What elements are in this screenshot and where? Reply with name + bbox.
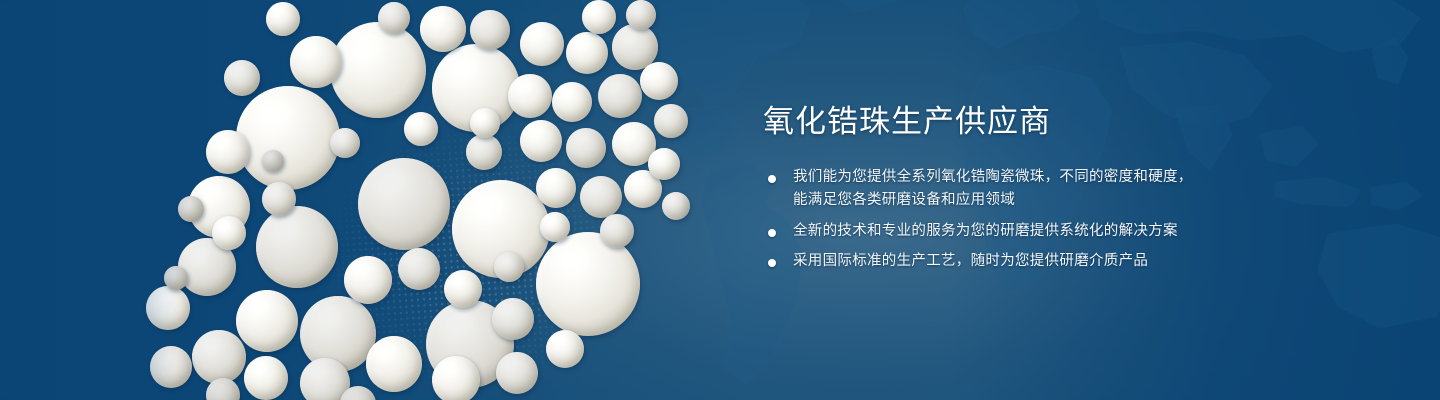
banner-headline: 氧化锆珠生产供应商 [763,104,1283,140]
hero-banner: 氧化锆珠生产供应商 我们能为您提供全系列氧化锆陶瓷微珠，不同的密度和硬度， 能满… [0,0,1440,400]
bullet-item-3: 采用国际标准的生产工艺，随时为您提供研磨介质产品 [763,250,1283,273]
bullet-item-1: 我们能为您提供全系列氧化锆陶瓷微珠，不同的密度和硬度， 能满足您各类研磨设备和应… [763,166,1283,213]
bullet-line: 采用国际标准的生产工艺，随时为您提供研磨介质产品 [793,250,1283,273]
bullet-dot-icon [768,259,776,267]
bullet-item-2: 全新的技术和专业的服务为您的研磨提供系统化的解决方案 [763,220,1283,243]
bullet-dot-icon [768,229,776,237]
bullet-line: 我们能为您提供全系列氧化锆陶瓷微珠，不同的密度和硬度， [793,166,1283,189]
bullet-dot-icon [768,175,776,183]
banner-bullet-list: 我们能为您提供全系列氧化锆陶瓷微珠，不同的密度和硬度， 能满足您各类研磨设备和应… [763,166,1283,274]
bullet-line: 能满足您各类研磨设备和应用领域 [793,189,1283,212]
bullet-line: 全新的技术和专业的服务为您的研磨提供系统化的解决方案 [793,220,1283,243]
banner-copy-block: 氧化锆珠生产供应商 我们能为您提供全系列氧化锆陶瓷微珠，不同的密度和硬度， 能满… [763,104,1283,281]
